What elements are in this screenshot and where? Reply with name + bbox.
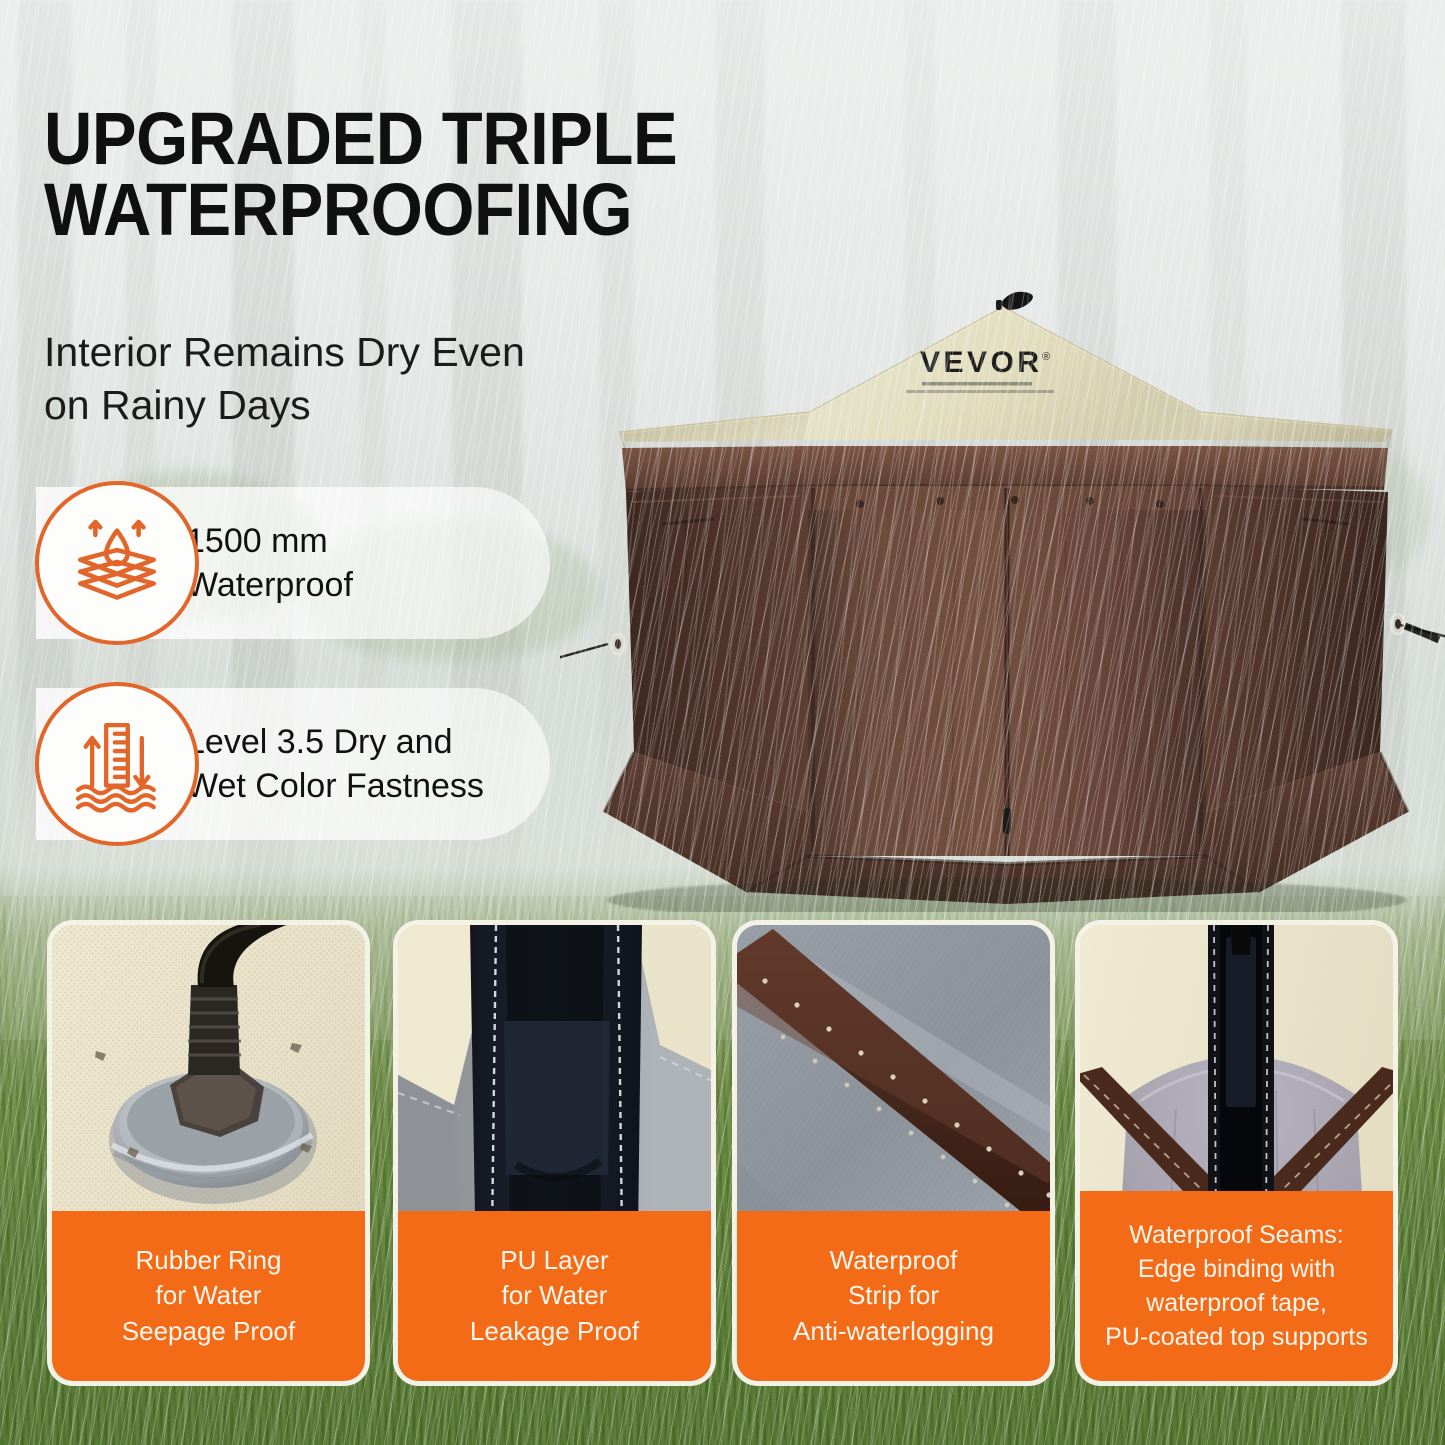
headline: UPGRADED TRIPLE WATERPROOFING xyxy=(44,103,750,245)
detail-card-rubber-ring: Rubber Ring for Water Seepage Proof xyxy=(47,920,370,1386)
detail-card-waterproof-seams: Waterproof Seams: Edge binding with wate… xyxy=(1075,920,1398,1386)
detail-card-waterproof-strip: Waterproof Strip for Anti-waterlogging xyxy=(732,920,1055,1386)
card-caption: PU Layer for Water Leakage Proof xyxy=(398,1211,711,1381)
card-caption: Waterproof Strip for Anti-waterlogging xyxy=(737,1211,1050,1381)
card-caption: Rubber Ring for Water Seepage Proof xyxy=(52,1211,365,1381)
feature-label: 1500 mm Waterproof xyxy=(186,519,353,607)
feature-label: Level 3.5 Dry and Wet Color Fastness xyxy=(186,720,484,808)
roof-peak-strap xyxy=(996,292,1033,310)
product-feature-graphic: VEVOR ® UPGRADED TRIPLE WATERPROOFING In… xyxy=(0,0,1445,1445)
detail-cards: Rubber Ring for Water Seepage Proof xyxy=(0,920,1445,1400)
feature-pill-waterproof: 1500 mm Waterproof xyxy=(36,487,550,639)
card-caption: Waterproof Seams: Edge binding with wate… xyxy=(1080,1191,1393,1381)
rain-on-tent xyxy=(604,307,1408,904)
gazebo-tent: VEVOR ® xyxy=(560,252,1445,912)
feature-pill-color-fastness: Level 3.5 Dry and Wet Color Fastness xyxy=(36,688,550,840)
color-fastness-gauge-icon xyxy=(35,682,199,846)
waterproof-layers-icon xyxy=(35,481,199,645)
detail-card-pu-layer: PU Layer for Water Leakage Proof xyxy=(393,920,716,1386)
subheadline: Interior Remains Dry Even on Rainy Days xyxy=(44,326,644,433)
